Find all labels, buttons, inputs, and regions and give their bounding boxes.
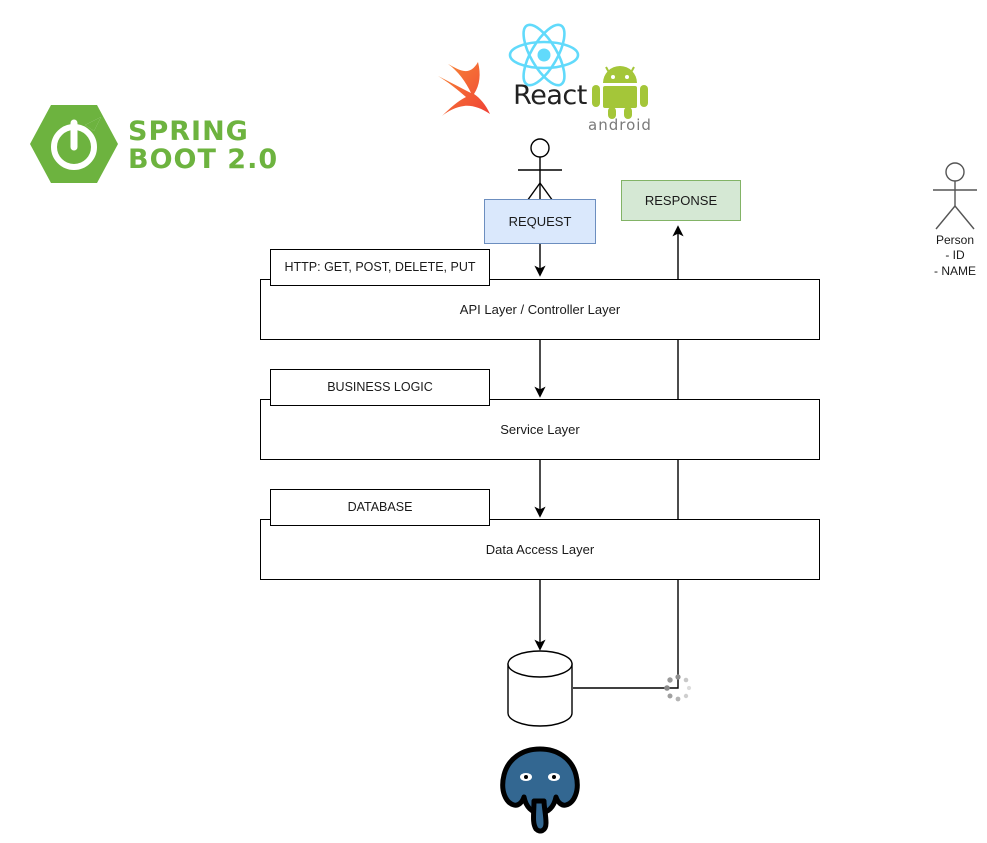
swift-logo bbox=[434, 58, 500, 120]
database-cylinder-icon bbox=[508, 651, 572, 726]
spring-boot-wordmark-line1: SPRING bbox=[128, 118, 278, 146]
android-logo bbox=[589, 63, 651, 119]
dao-layer-box[interactable]: Data Access Layer bbox=[260, 519, 820, 580]
api-layer-box[interactable]: API Layer / Controller Layer bbox=[260, 279, 820, 340]
spring-boot-wordmark: SPRING BOOT 2.0 bbox=[128, 118, 278, 173]
response-box[interactable]: RESPONSE bbox=[621, 180, 741, 221]
android-wordmark: android bbox=[574, 116, 666, 134]
api-layer-tag[interactable]: HTTP: GET, POST, DELETE, PUT bbox=[270, 249, 490, 286]
spring-boot-wordmark-line2: BOOT 2.0 bbox=[128, 146, 278, 174]
react-nucleus bbox=[538, 49, 551, 62]
swift-bird-shape bbox=[438, 62, 490, 116]
service-layer-box[interactable]: Service Layer bbox=[260, 399, 820, 460]
android-head bbox=[603, 66, 637, 83]
postgresql-logo bbox=[492, 743, 588, 835]
react-wordmark: React bbox=[505, 80, 595, 111]
client-actor-icon bbox=[518, 139, 562, 208]
person-actor-label: Person - ID - NAME bbox=[895, 233, 987, 279]
service-layer-tag[interactable]: BUSINESS LOGIC bbox=[270, 369, 490, 406]
postgres-elephant-trunk bbox=[534, 801, 547, 831]
spring-boot-logo bbox=[28, 103, 120, 185]
request-box[interactable]: REQUEST bbox=[484, 199, 596, 244]
person-actor-icon bbox=[933, 163, 977, 229]
loading-spinner-icon bbox=[662, 672, 694, 704]
dao-layer-tag[interactable]: DATABASE bbox=[270, 489, 490, 526]
